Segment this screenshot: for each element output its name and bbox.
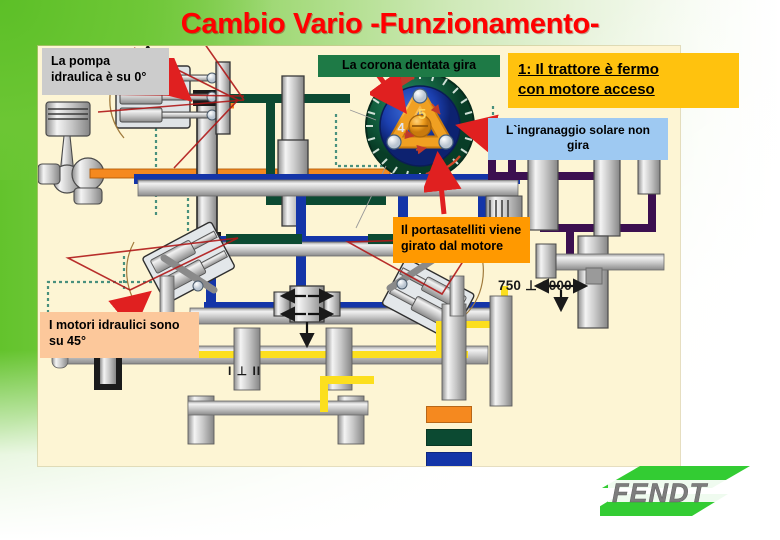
engine-piston — [38, 102, 104, 204]
callout-corona-dentata: La corona dentata gira — [318, 55, 500, 77]
page-title: Cambio Vario -Funzionamento- — [0, 8, 780, 41]
transmission-diagram: 5 4 — [38, 46, 680, 466]
diagram-canvas: 5 4 — [38, 46, 680, 466]
planetary-gear-set: 5 4 — [366, 72, 474, 180]
callout-stato-line2: con motore acceso — [518, 81, 655, 98]
callout-stato-trattore: 1: Il trattore è fermo con motore acceso — [508, 53, 739, 108]
color-legend — [426, 406, 470, 466]
diagram-panel: 5 4 — [38, 46, 680, 466]
legend-swatch-blue — [426, 452, 472, 466]
legend-swatch-orange — [426, 406, 472, 423]
pto-speed-label: 750 ⊥ 1000 — [498, 278, 572, 294]
fendt-logo: FENDT — [600, 462, 752, 520]
callout-motori-idraulici: I motori idraulici sono su 45° — [40, 312, 199, 358]
fendt-logo-text: FENDT — [612, 478, 707, 509]
planet-number-5: 5 — [418, 106, 426, 123]
range-selector-label: I ⊥ II — [228, 364, 261, 378]
callout-portasatelliti: Il portasatelliti viene girato dal motor… — [393, 217, 530, 263]
legend-swatch-dark-green — [426, 429, 472, 446]
callout-ingranaggio-solare: L`ingranaggio solare non gira — [488, 118, 668, 160]
callout-pompa-idraulica: La pompa idraulica è su 0° — [42, 48, 169, 95]
callout-stato-line1: 1: Il trattore è fermo — [518, 61, 659, 78]
planet-number-4: 4 — [397, 120, 405, 135]
final-drive — [188, 376, 374, 415]
slide-root: Cambio Vario -Funzionamento- — [0, 0, 780, 540]
